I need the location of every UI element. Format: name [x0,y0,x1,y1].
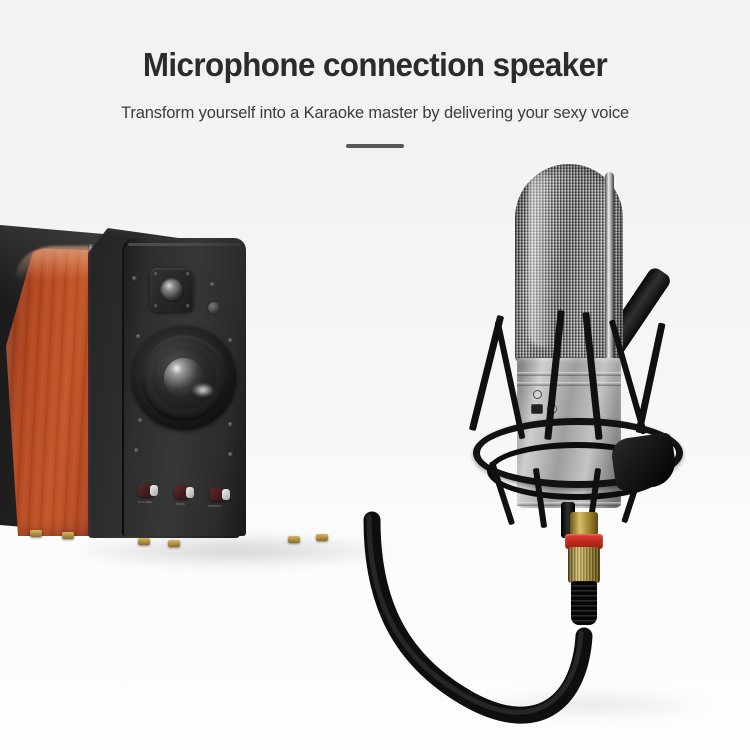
baffle-screw [228,452,233,457]
knob-volume-label: VOLUME [138,500,152,504]
woofer-screw [228,422,233,427]
microphone-pad-switch[interactable] [533,390,542,399]
baffle-screw [208,302,220,314]
woofer-driver [132,326,236,430]
knob-treble-label: TREBLE [208,504,221,508]
speaker-foot [288,536,300,543]
speaker-foot [316,534,328,541]
xlr-strain-relief [571,581,597,625]
woofer-screw [228,338,233,343]
page-subtitle: Transform yourself into a Karaoke master… [11,84,739,124]
baffle-screw [132,276,137,281]
speaker-foot [168,540,180,547]
knob-bass-label: BASS [176,502,185,506]
baffle-screw [134,448,139,453]
speaker-product: VOLUME BASS TREBLE [0,222,370,552]
tweeter-mount-plate [150,268,194,312]
page-title: Microphone connection speaker [19,0,732,84]
speaker-foot [62,532,74,539]
shock-mount-yoke [610,432,679,492]
microphone-chrome-rib [605,172,614,368]
woofer-screw [138,418,143,423]
knob-treble[interactable] [210,488,226,501]
microphone-grille-highlight [529,172,555,347]
tweeter-screw [186,304,190,308]
tweeter-screw [154,272,158,276]
speaker-front-baffle: VOLUME BASS TREBLE [122,238,246,536]
baffle-screw [210,282,215,287]
xlr-gold-barrel [568,547,600,583]
title-divider [346,144,404,148]
banner-header: Microphone connection speaker Transform … [0,0,750,148]
microphone-pattern-switch[interactable] [531,404,543,414]
speaker-foot [138,538,150,545]
microphone-body-ring [517,382,621,386]
speaker-foot [30,530,42,537]
tweeter-dome [160,278,184,302]
shock-mount-strut [635,322,665,433]
microphone-product [465,150,715,570]
knob-volume[interactable] [138,484,154,497]
mic-floor-shadow [470,690,710,720]
product-banner: Microphone connection speaker Transform … [0,0,750,750]
xlr-connector [562,512,606,638]
microphone-body-ring [517,372,621,376]
knob-bass[interactable] [174,486,190,499]
tweeter-screw [186,272,190,276]
woofer-screw [136,334,141,339]
xlr-collar [570,512,598,536]
tweeter-screw [154,304,158,308]
